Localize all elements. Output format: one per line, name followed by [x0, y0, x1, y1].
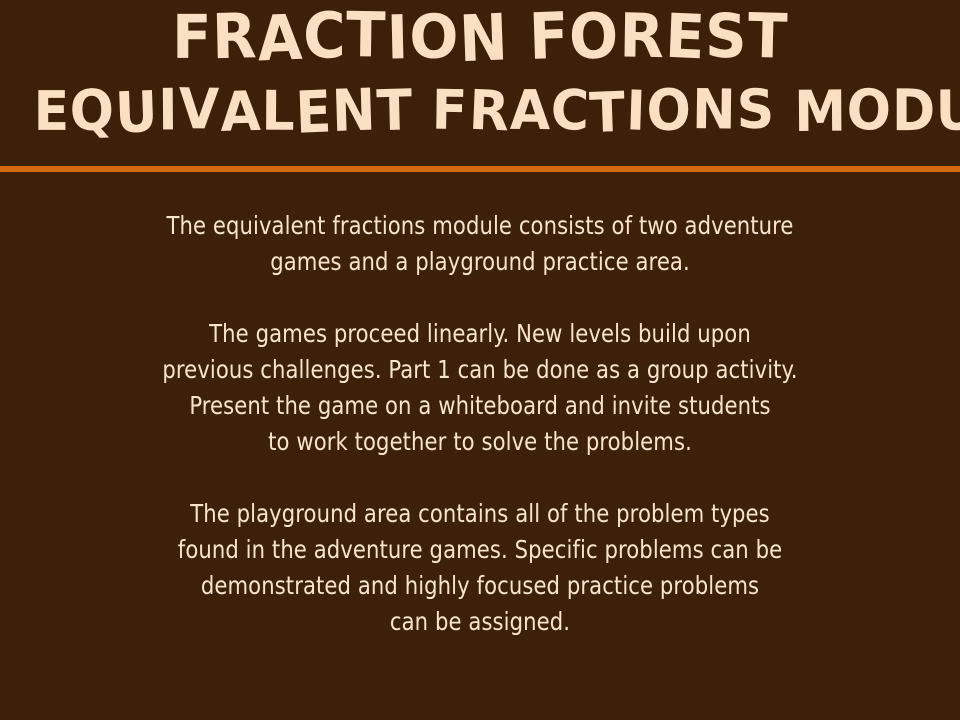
title-line-secondary: EQUIVALENT FRACTIONS MODULE: [34, 84, 927, 140]
paragraph: The playground area contains all of the …: [29, 496, 931, 640]
title-glyph: [413, 84, 432, 140]
paragraph-line: to work together to solve the problems.: [29, 424, 931, 460]
title-glyph: S: [736, 83, 775, 137]
title-glyph: M: [794, 84, 847, 141]
title-glyph: T: [346, 4, 387, 67]
title-glyph: O: [647, 83, 693, 140]
title-glyph: F: [528, 4, 570, 69]
body-copy: The equivalent fractions module consists…: [0, 172, 960, 720]
title-glyph: R: [619, 6, 665, 67]
title-glyph: [508, 6, 529, 68]
title-glyph: C: [303, 4, 347, 68]
title-glyph: R: [468, 84, 511, 141]
title-glyph: U: [114, 84, 159, 142]
title-glyph: U: [936, 84, 960, 139]
title-glyph: I: [626, 84, 648, 140]
title-glyph: N: [458, 6, 509, 72]
title-glyph: E: [294, 84, 333, 143]
paragraph-line: demonstrated and highly focused practice…: [29, 568, 931, 604]
title-glyph: O: [409, 7, 459, 68]
paragraph-line: found in the adventure games. Specific p…: [29, 532, 931, 568]
paragraph-line: games and a playground practice area.: [29, 244, 931, 280]
title-line-primary: FRACTION FOREST: [34, 6, 927, 68]
paragraph-line: can be assigned.: [29, 604, 931, 640]
paragraph: The equivalent fractions module consists…: [29, 208, 931, 280]
paragraph-line: The equivalent fractions module consists…: [29, 208, 931, 244]
title-header: FRACTION FOREST EQUIVALENT FRACTIONS MOD…: [0, 0, 960, 166]
title-glyph: D: [892, 83, 936, 140]
title-glyph: T: [747, 5, 789, 67]
title-glyph: T: [376, 83, 414, 140]
title-glyph: N: [692, 83, 737, 139]
title-glyph: I: [158, 82, 179, 139]
title-glyph: O: [569, 5, 621, 69]
title-glyph: I: [386, 7, 410, 68]
slide: FRACTION FOREST EQUIVALENT FRACTIONS MOD…: [0, 0, 960, 720]
title-glyph: V: [179, 82, 221, 139]
title-glyph: C: [550, 83, 590, 139]
paragraph-line: previous challenges. Part 1 can be done …: [29, 352, 931, 388]
title-glyph: L: [261, 85, 295, 140]
paragraph: The games proceed linearly. New levels b…: [29, 316, 931, 460]
title-glyph: F: [172, 7, 212, 67]
title-glyph: A: [510, 84, 551, 139]
paragraph-line: Present the game on a whiteboard and inv…: [29, 388, 931, 424]
title-glyph: F: [432, 84, 469, 139]
title-glyph: T: [589, 86, 627, 142]
title-glyph: A: [256, 6, 304, 70]
title-glyph: S: [705, 6, 748, 67]
title-glyph: E: [34, 85, 71, 140]
title-glyph: A: [219, 85, 261, 141]
title-glyph: O: [846, 82, 893, 140]
title-glyph: Q: [69, 83, 115, 140]
title-glyph: N: [331, 82, 377, 141]
paragraph-line: The playground area contains all of the …: [29, 496, 931, 532]
paragraph-line: The games proceed linearly. New levels b…: [29, 316, 931, 352]
title-glyph: R: [212, 5, 259, 68]
title-glyph: [775, 84, 794, 140]
title-glyph: E: [664, 6, 707, 69]
